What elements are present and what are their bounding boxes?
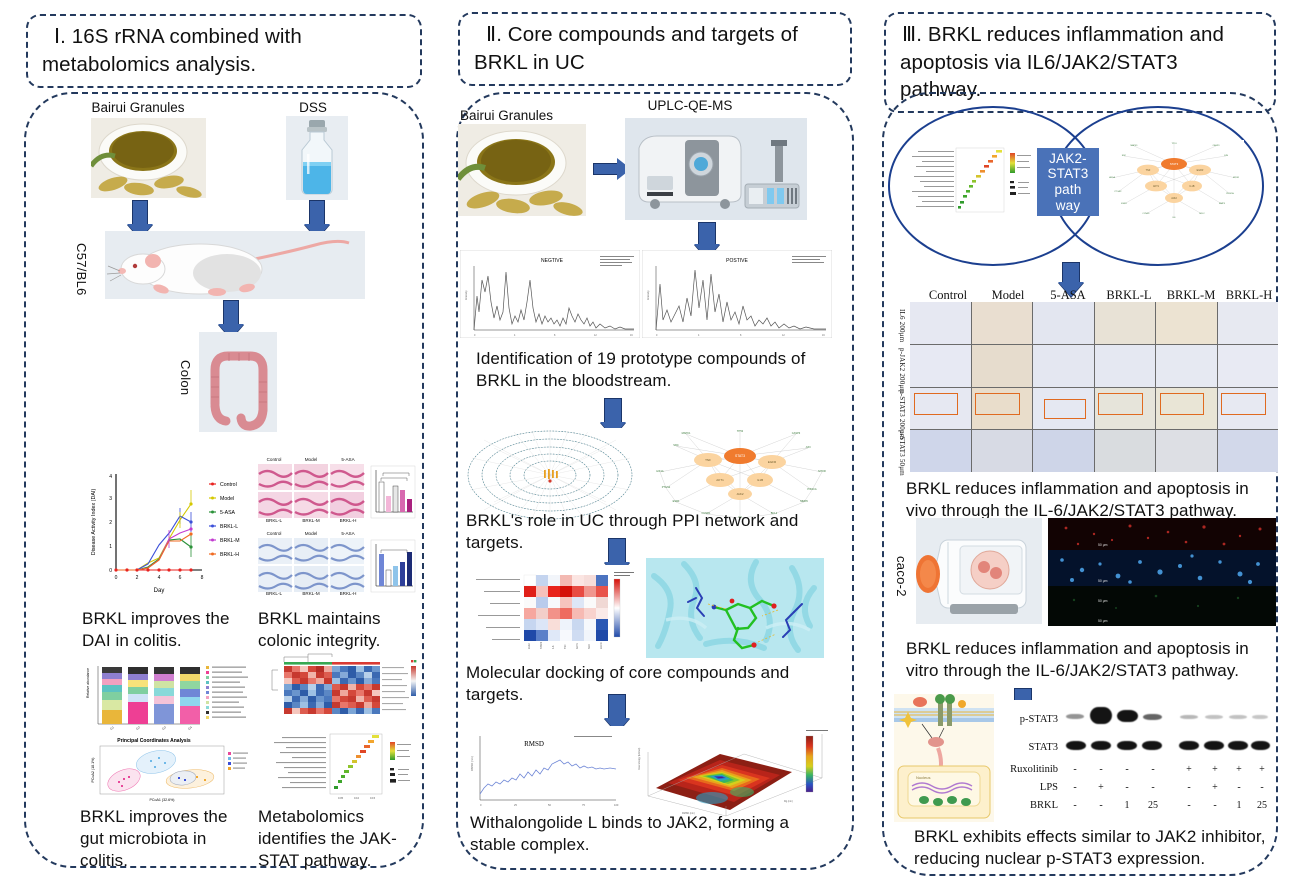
svg-text:Control: Control (267, 531, 282, 536)
svg-text:STAT3: STAT3 (1170, 162, 1179, 166)
svg-text:8: 8 (201, 575, 204, 581)
svg-text:TP53: TP53 (737, 429, 744, 433)
svg-text:EGFR: EGFR (768, 460, 777, 464)
ihc-image-grid (910, 302, 1278, 472)
ihc-row-pstat3-200: p-STAT3 200μm (898, 390, 906, 430)
ihc-row-pjak2: p-JAK2 200μm (898, 348, 906, 388)
wb-band (1205, 715, 1223, 719)
panel-core-compounds: Ⅱ. Core compounds and targets of BRKL in… (450, 0, 858, 896)
svg-text:STAT3: STAT3 (540, 641, 543, 649)
rmsd-svg: RMSD 0255075100 RMSD (nm) (464, 726, 624, 814)
docking-3d-structure (646, 558, 824, 658)
colon-image (199, 332, 277, 432)
svg-text:AKT1: AKT1 (716, 478, 724, 482)
wb-band (1204, 741, 1224, 750)
wb-band (1090, 707, 1112, 724)
wb-rux-4: - (1144, 764, 1162, 775)
mouse-image (105, 231, 365, 299)
wb-brkl-5: - (1180, 800, 1198, 811)
svg-text:TP53: TP53 (1172, 143, 1178, 145)
svg-text:MMP9: MMP9 (800, 499, 808, 503)
caption-gut-microbiota: BRKL improves the gut microbiota in coli… (80, 806, 250, 871)
venn-text-line-3: path (1054, 182, 1081, 198)
svg-text:0.10: 0.10 (354, 796, 360, 800)
arrow-to-md (608, 694, 626, 720)
wb-brkl-8: 25 (1253, 800, 1271, 811)
pathway-cartoon-image: Nucleus (894, 694, 994, 822)
svg-text:Control: Control (267, 457, 282, 462)
svg-text:IL1B: IL1B (757, 478, 763, 482)
wb-rux-8: + (1253, 764, 1271, 775)
ihc-col-brkl-m: BRKL-M (1162, 288, 1220, 303)
label-caco-2: caco-2 (894, 556, 909, 626)
panel-2-title: . Core compounds and targets of BRKL in … (474, 23, 798, 74)
arrow-granules-to-instrument (593, 163, 619, 175)
svg-text:PCoA1 (32.6%): PCoA1 (32.6%) (150, 798, 175, 802)
svg-text:5-ASA: 5-ASA (341, 531, 355, 536)
arrow-mouse-to-colon (223, 300, 239, 326)
label-mouse-strain: C57/BL6 (74, 243, 89, 323)
svg-text:ESR1: ESR1 (1121, 203, 1127, 205)
svg-text:4: 4 (158, 575, 161, 581)
ihc-row-il6: IL6 200μm (898, 306, 906, 346)
svg-text:JAK2: JAK2 (1171, 197, 1177, 200)
ihc-cell-boxed (910, 388, 971, 430)
caption-binding: Withalongolide L binds to JAK2, forming … (470, 812, 830, 856)
histology-images-p1: Control Model 5-ASA BRKL-L BRKL-M BRKL-H… (256, 450, 418, 602)
enrichment-dotplot-venn (910, 145, 1035, 217)
svg-text:JAK2: JAK2 (528, 643, 531, 649)
histology-svg: Control Model 5-ASA BRKL-L BRKL-M BRKL-H… (256, 450, 418, 602)
caption-invivo: BRKL reduces inflammation and apoptosis … (906, 478, 1276, 522)
caption-identification: Identification of 19 prototype compounds… (476, 348, 836, 392)
wb-band (1117, 741, 1137, 750)
svg-text:Relative abundance: Relative abundance (86, 668, 90, 698)
svg-text:50 μm: 50 μm (1098, 543, 1108, 547)
wb-band (1252, 715, 1268, 719)
wb-rux-6: + (1206, 764, 1224, 775)
wb-rux-7: + (1230, 764, 1248, 775)
ihc-cell (1156, 345, 1217, 387)
ihc-cell-boxed (1156, 388, 1217, 430)
svg-text:SRC: SRC (673, 443, 679, 447)
svg-text:Free Energy (kJ/mol): Free Energy (kJ/mol) (638, 747, 641, 770)
wb-label-stat3: STAT3 (1000, 742, 1058, 753)
ihc-row-pstat3-50: p-STAT3 50μm (898, 430, 906, 470)
svg-text:MTOR: MTOR (818, 469, 826, 473)
docking-structure-svg (646, 558, 824, 658)
svg-text:Model: Model (305, 457, 318, 462)
label-bairui-granules-p1: Bairui Granules (68, 100, 208, 115)
ihc-col-brkl-h: BRKL-H (1220, 288, 1278, 303)
docking-heatmap: JAK2 STAT3 IL6 TNF AKT1 SRC EGFR (464, 565, 639, 657)
wb-rux-1: - (1066, 764, 1084, 775)
bairui-granules-image-p1 (91, 118, 206, 198)
svg-text:BRKL-L: BRKL-L (266, 518, 283, 523)
svg-text:BRKL-H: BRKL-H (340, 518, 357, 523)
svg-text:2: 2 (109, 520, 112, 526)
colon-illustration (199, 332, 277, 432)
ihc-cell-zoom (910, 430, 971, 472)
svg-text:JUN: JUN (805, 445, 810, 449)
ihc-cell-boxed (1095, 388, 1156, 430)
svg-text:5-ASA: 5-ASA (341, 457, 355, 462)
chromatogram-negative: NEGTIVE 0481216 Intensity (460, 250, 640, 338)
panel-1-roman: Ⅰ (42, 26, 60, 48)
svg-text:3: 3 (109, 496, 112, 502)
svg-text:Intensity: Intensity (464, 290, 468, 300)
caption-dai: BRKL improves the DAI in colitis. (82, 608, 247, 652)
svg-text:6: 6 (179, 575, 182, 581)
svg-text:MAPK1: MAPK1 (682, 431, 691, 435)
ppi-network-venn: STAT3 TNFEGFRAKT1 IL1BJAK2 SRCMAPK1TP53 … (1104, 140, 1244, 222)
ihc-col-model: Model (980, 288, 1036, 303)
ppi-network-venn-svg: STAT3 TNFEGFRAKT1 IL1BJAK2 SRCMAPK1TP53 … (1104, 140, 1244, 222)
svg-text:HIF1A: HIF1A (1109, 176, 1116, 179)
svg-text:5-ASA: 5-ASA (220, 510, 236, 516)
microbiota-svg: Relative abundance G1 G2 G3 G4 (80, 656, 252, 804)
svg-text:SRC: SRC (1122, 155, 1127, 157)
western-blot-panel: p-STAT3 STAT3 Ruxolitinib - - - (1000, 700, 1270, 818)
venn-text-line-1: JAK2- (1049, 151, 1087, 167)
ihc-cell (1095, 302, 1156, 344)
compound-target-network-svg (464, 428, 636, 522)
caption-ppi: BRKL's role in UC through PPI network an… (466, 510, 846, 554)
svg-text:0.15: 0.15 (370, 796, 376, 800)
svg-text:Principal Coordinates Analysis: Principal Coordinates Analysis (117, 738, 191, 744)
svg-text:100: 100 (614, 803, 619, 807)
svg-text:PIK3CA: PIK3CA (807, 487, 816, 491)
wb-band (1143, 714, 1162, 720)
label-uplc-qe-ms: UPLC-QE-MS (610, 98, 770, 113)
ihc-cell-zoom (1156, 430, 1217, 472)
ihc-cell (1033, 302, 1094, 344)
wb-band (1179, 741, 1199, 750)
wb-lps-3: - (1118, 782, 1136, 793)
rmsd-plot: RMSD 0255075100 RMSD (nm) (464, 726, 624, 814)
ihc-cell (1218, 302, 1279, 344)
svg-text:BCL2: BCL2 (1199, 213, 1205, 215)
svg-text:2: 2 (136, 575, 139, 581)
wb-band (1066, 741, 1086, 750)
wb-brkl-3: 1 (1118, 800, 1136, 811)
ihc-col-5asa: 5-ASA (1040, 288, 1096, 303)
caption-docking: Molecular docking of core compounds and … (466, 662, 846, 706)
svg-text:CCND1: CCND1 (1142, 213, 1150, 215)
chromatogram-positive: POSTIVE 0481216 Intensity (642, 250, 832, 338)
svg-text:BRKL-M: BRKL-M (220, 538, 240, 544)
svg-text:TNF: TNF (564, 644, 567, 649)
ihc-cell-zoom (1095, 430, 1156, 472)
rmsd-title: RMSD (524, 740, 544, 748)
wb-rux-3: - (1118, 764, 1136, 775)
chromatogram-negative-svg: NEGTIVE 0481216 Intensity (460, 250, 640, 338)
panel-1-header: Ⅰ. 16S rRNA combined with metabolomics a… (26, 14, 422, 88)
svg-text:IL1B: IL1B (1190, 185, 1195, 188)
svg-text:ESR1: ESR1 (673, 499, 680, 503)
wb-brkl-7: 1 (1230, 800, 1248, 811)
chromatogram-positive-title: POSTIVE (726, 258, 748, 264)
svg-text:Day: Day (154, 588, 165, 594)
energy-landscape-3d: Free Energy (kJ/mol) RMSD (nm) Rg (nm) (634, 720, 834, 818)
wb-lps-2: + (1092, 782, 1110, 793)
wb-band (1117, 710, 1138, 722)
svg-text:Control: Control (220, 482, 237, 488)
ihc-cell (972, 345, 1033, 387)
dss-bottle-image (286, 116, 348, 200)
wb-rux-5: + (1180, 764, 1198, 775)
chromatogram-negative-title: NEGTIVE (541, 258, 564, 264)
svg-text:SRC: SRC (588, 644, 591, 649)
wb-lps-4: - (1144, 782, 1162, 793)
powder-dish-illustration (91, 118, 206, 198)
svg-text:0.05: 0.05 (338, 796, 344, 800)
venn-text-line-2: STAT3 (1047, 166, 1088, 182)
dss-bottle-illustration (286, 116, 348, 200)
energy-landscape-svg: Free Energy (kJ/mol) RMSD (nm) Rg (nm) (634, 720, 834, 818)
svg-text:0: 0 (115, 575, 118, 581)
ihc-cell (1218, 345, 1279, 387)
ihc-cell-boxed (1033, 388, 1094, 430)
arrow-venn-to-ihc (1062, 262, 1080, 284)
label-colon: Colon (178, 360, 193, 410)
svg-text:CASP3: CASP3 (1213, 144, 1221, 147)
svg-text:RMSD (nm): RMSD (nm) (470, 756, 474, 771)
wb-brkl-6: - (1206, 800, 1224, 811)
svg-text:PCoA2 (18.1%): PCoA2 (18.1%) (91, 758, 95, 783)
immunofluorescence-image: 50 μm50 μm50 μm50 μm (1048, 518, 1276, 626)
svg-text:STAT3: STAT3 (735, 454, 745, 458)
wb-band (1066, 714, 1084, 719)
svg-text:BRKL-M: BRKL-M (302, 518, 320, 523)
venn-center-label: JAK2- STAT3 path way (1037, 148, 1099, 216)
graphical-abstract: Ⅰ. 16S rRNA combined with metabolomics a… (0, 0, 1290, 896)
enrichment-dotplot-svg (910, 145, 1035, 217)
svg-text:AKT1: AKT1 (1153, 185, 1160, 188)
ihc-cell-zoom (1218, 430, 1279, 472)
wb-band (1142, 741, 1162, 750)
ihc-cell-zoom (1033, 430, 1094, 472)
dai-chart-svg: 0 1 2 3 4 0 2 4 6 8 Day Disease Activity… (82, 452, 252, 602)
dai-line-chart: 0 1 2 3 4 0 2 4 6 8 Day Disease Activity… (82, 452, 252, 602)
wb-brkl-1: - (1066, 800, 1084, 811)
panel-3-roman: Ⅲ (900, 24, 916, 46)
wb-label-p-stat3: p-STAT3 (1000, 714, 1058, 725)
arrow-instrument-to-chromatograms (698, 222, 716, 246)
metabolomics-figure: 0.050.100.15 (256, 650, 421, 805)
ppi-network-p2: STAT3 TNFEGFR AKT1IL1BJAK2 SRCMAPK1TP53 … (646, 424, 834, 524)
svg-text:EGFR: EGFR (600, 642, 603, 649)
cell-culture-flask-image (916, 518, 1042, 624)
docking-heatmap-svg: JAK2 STAT3 IL6 TNF AKT1 SRC EGFR (464, 565, 639, 657)
culture-flask-illustration (916, 518, 1042, 624)
svg-text:PTGS2: PTGS2 (662, 485, 671, 489)
immunofluorescence-svg: 50 μm50 μm50 μm50 μm (1048, 518, 1276, 626)
wb-band (1251, 741, 1270, 750)
microbiota-figure: Relative abundance G1 G2 G3 G4 (80, 656, 252, 804)
svg-text:JUN: JUN (1224, 155, 1229, 157)
ihc-col-brkl-l: BRKL-L (1100, 288, 1158, 303)
panel-2-roman: Ⅱ (474, 24, 496, 46)
ihc-cell-boxed (1218, 388, 1279, 430)
ihc-cell (910, 345, 971, 387)
pathway-cartoon-svg: Nucleus (894, 694, 994, 822)
wb-rux-2: - (1092, 764, 1110, 775)
svg-text:PIK3CA: PIK3CA (1226, 192, 1234, 195)
mouse-illustration (105, 231, 365, 299)
chromatogram-positive-svg: POSTIVE 0481216 Intensity (642, 250, 832, 338)
svg-text:JAK2: JAK2 (736, 492, 744, 496)
svg-text:TNF: TNF (705, 458, 711, 462)
arrow-granules-to-mouse (132, 200, 148, 226)
bairui-granules-image-p2 (458, 124, 586, 216)
metabolomics-svg: 0.050.100.15 (256, 650, 421, 805)
arrow-to-docking (608, 538, 626, 564)
svg-text:MMP9: MMP9 (1219, 203, 1226, 205)
panel-3-title: . BRKL reduces inflammation and apoptosi… (900, 23, 1224, 101)
wb-lps-6: + (1206, 782, 1224, 793)
compound-target-network (464, 428, 636, 522)
caption-metabolomics-jakstat: Metabolomics identifies the JAK-STAT pat… (258, 806, 423, 871)
wb-lps-8: - (1253, 782, 1271, 793)
uplc-instrument-image (625, 118, 807, 220)
wb-brkl-4: 25 (1144, 800, 1162, 811)
ihc-cell (972, 302, 1033, 344)
svg-text:CASP3: CASP3 (792, 431, 801, 435)
svg-text:HIF1A: HIF1A (656, 469, 664, 473)
powder-dish-illustration-2 (458, 124, 586, 216)
uplc-instrument-illustration (625, 118, 807, 220)
panel-1-title: . 16S rRNA combined with metabolomics an… (42, 25, 302, 76)
svg-text:Nucleus: Nucleus (916, 775, 930, 780)
svg-text:BRKL-H: BRKL-H (220, 552, 239, 558)
label-dss: DSS (273, 100, 353, 115)
arrow-to-ppi (604, 398, 622, 424)
ihc-cell (1095, 345, 1156, 387)
wb-band (1228, 741, 1248, 750)
svg-text:EGFR: EGFR (1197, 169, 1204, 172)
svg-text:1: 1 (109, 544, 112, 550)
svg-text:Disease Activity Index (DAI): Disease Activity Index (DAI) (91, 489, 97, 556)
ihc-cell (910, 302, 971, 344)
svg-text:PTGS2: PTGS2 (1115, 191, 1123, 193)
wb-label-ruxolitinib: Ruxolitinib (1000, 764, 1058, 775)
panel-2-header: Ⅱ. Core compounds and targets of BRKL in… (458, 12, 852, 86)
wb-label-lps: LPS (1000, 782, 1058, 793)
svg-text:0: 0 (109, 568, 112, 574)
wb-band (1180, 715, 1198, 719)
caption-colonic-integrity: BRKL maintains colonic integrity. (258, 608, 423, 652)
wb-band (1091, 741, 1111, 750)
panel-16s-metabolomics: Ⅰ. 16S rRNA combined with metabolomics a… (18, 0, 428, 896)
svg-text:4: 4 (109, 474, 112, 480)
svg-text:Rg (nm): Rg (nm) (784, 800, 793, 803)
ihc-col-control: Control (920, 288, 976, 303)
svg-text:TNF: TNF (1146, 169, 1151, 172)
svg-text:Model: Model (305, 531, 318, 536)
ihc-cell-zoom (972, 430, 1033, 472)
ppi-network-svg: STAT3 TNFEGFR AKT1IL1BJAK2 SRCMAPK1TP53 … (646, 424, 834, 524)
arrow-dss-to-mouse (309, 200, 325, 226)
caption-blot: BRKL exhibits effects similar to JAK2 in… (914, 826, 1274, 870)
panel-brkl-pathway: Ⅲ. BRKL reduces inflammation and apoptos… (876, 0, 1282, 896)
label-bairui-granules-p2: Bairui Granules (450, 108, 590, 123)
ihc-cell-boxed (972, 388, 1033, 430)
wb-brkl-2: - (1092, 800, 1110, 811)
svg-text:50 μm: 50 μm (1098, 579, 1108, 583)
svg-text:BRKL-L: BRKL-L (220, 524, 238, 530)
svg-text:50 μm: 50 μm (1098, 599, 1108, 603)
wb-lps-5: - (1180, 782, 1198, 793)
ihc-cell (1156, 302, 1217, 344)
caption-invitro: BRKL reduces inflammation and apoptosis … (906, 638, 1276, 682)
wb-lps-1: - (1066, 782, 1084, 793)
wb-label-brkl: BRKL (1000, 800, 1058, 811)
svg-text:Intensity: Intensity (646, 290, 650, 300)
wb-lps-7: - (1230, 782, 1248, 793)
venn-text-line-4: way (1056, 198, 1081, 214)
wb-band (1229, 715, 1247, 719)
ihc-cell (1033, 345, 1094, 387)
svg-text:MAPK1: MAPK1 (1130, 144, 1138, 147)
svg-text:50 μm: 50 μm (1098, 619, 1108, 623)
svg-text:MTOR: MTOR (1233, 177, 1240, 179)
svg-text:Model: Model (220, 496, 234, 502)
svg-text:AKT1: AKT1 (576, 642, 579, 649)
